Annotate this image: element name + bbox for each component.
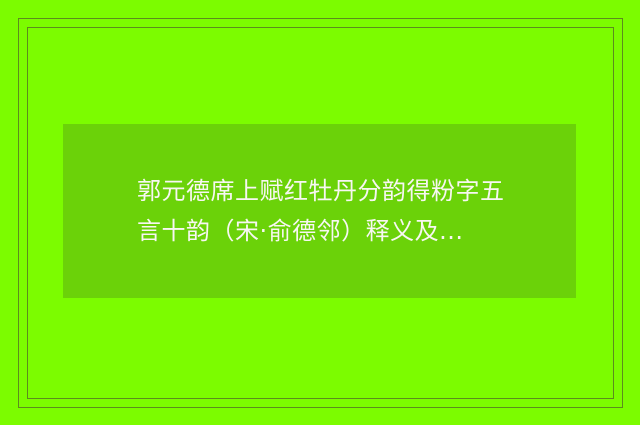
title-panel: 郭元德席上赋红牡丹分韵得粉字五言十韵（宋·俞德邻）释义及... (63, 124, 576, 298)
page-title: 郭元德席上赋红牡丹分韵得粉字五言十韵（宋·俞德邻）释义及... (137, 171, 516, 251)
thumbnail-card: 郭元德席上赋红牡丹分韵得粉字五言十韵（宋·俞德邻）释义及... (0, 0, 640, 425)
